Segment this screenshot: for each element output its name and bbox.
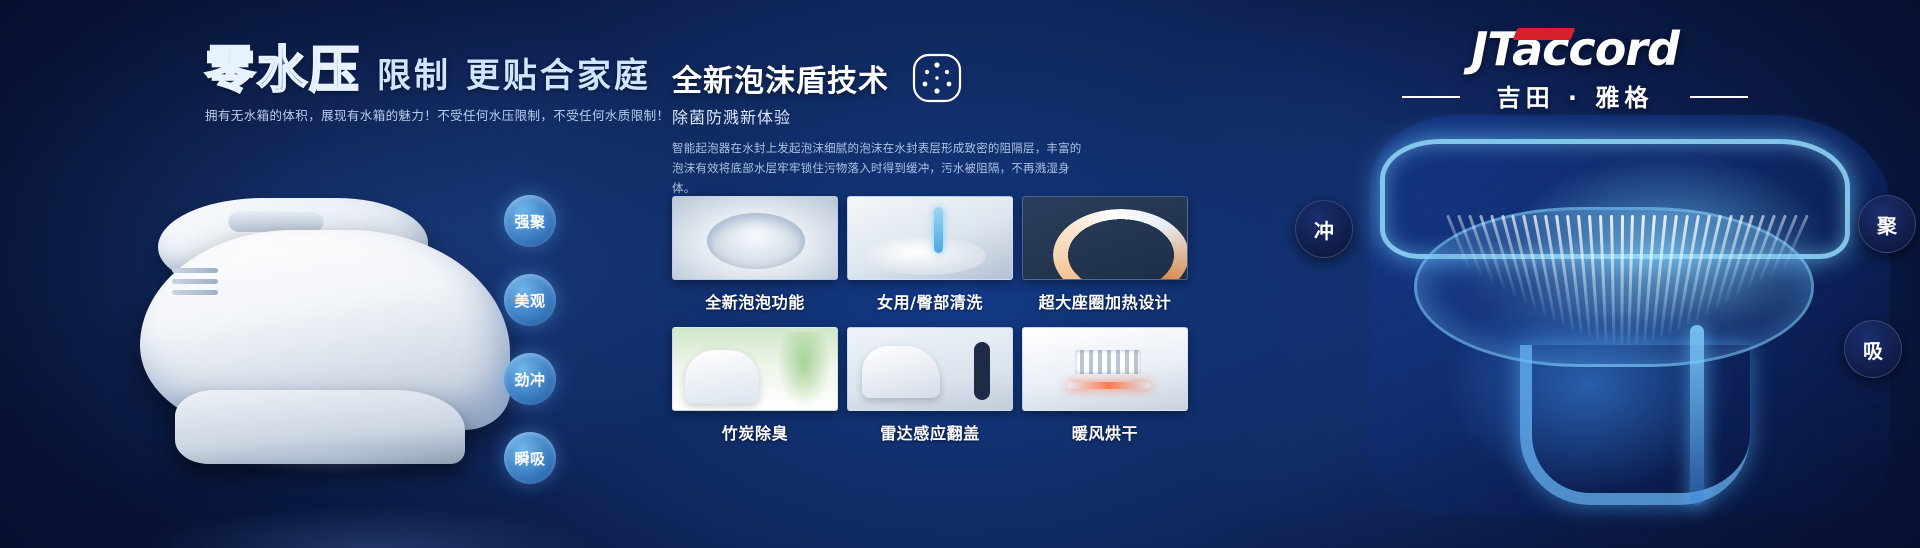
feature-caption: 雷达感应翻盖: [847, 420, 1013, 444]
feature-badge-column: 强聚 美观 劲冲 瞬吸: [504, 195, 556, 484]
headline-row: 零水压 限制 更贴合家庭: [205, 30, 651, 102]
circle-badge-chong[interactable]: 冲: [1295, 200, 1353, 258]
middle-panel: 全新泡沫盾技术 除菌防溅新体验 智能起泡器在水封上发起泡沫细腻的泡沫在水封表层形…: [660, 0, 1240, 548]
heated-seat-ring-thumb: [1022, 196, 1188, 280]
logo-chinese-name: 吉田 · 雅格: [1410, 78, 1740, 113]
left-panel: 零水压 限制 更贴合家庭 拥有无水箱的体积，展现有水箱的魅力！不受任何水压限制，…: [0, 0, 660, 548]
circle-badge-xi[interactable]: 吸: [1844, 320, 1902, 378]
badge-jin-chong[interactable]: 劲冲: [504, 353, 556, 405]
feature-cell[interactable]: 超大座圈加热设计: [1022, 196, 1188, 313]
right-panel: JTaccord 吉田 · 雅格 冲 聚 吸: [1240, 0, 1920, 548]
product-image: [120, 140, 540, 470]
badge-mei-guan[interactable]: 美观: [504, 274, 556, 326]
feature-caption: 超大座圈加热设计: [1022, 289, 1188, 313]
feature-cell[interactable]: 竹炭除臭: [672, 327, 838, 444]
logo-wordmark: JTaccord: [1471, 22, 1679, 76]
middle-heading-row: 全新泡沫盾技术: [672, 52, 963, 104]
promo-banner: 零水压 限制 更贴合家庭 拥有无水箱的体积，展现有水箱的魅力！不受任何水压限制，…: [0, 0, 1920, 548]
feature-cell[interactable]: 全新泡泡功能: [672, 196, 838, 313]
female-rear-wash-thumb: [847, 196, 1013, 280]
product-control-panel: [228, 210, 324, 232]
warm-air-dry-thumb: [1022, 327, 1188, 411]
product-reflection: [170, 450, 490, 520]
headline-sub: 限制 更贴合家庭: [377, 48, 651, 97]
middle-title: 全新泡沫盾技术: [672, 56, 889, 100]
circle-badge-ju[interactable]: 聚: [1858, 195, 1916, 253]
feature-cell[interactable]: 女用/臀部清洗: [847, 196, 1013, 313]
brand-logo: JTaccord 吉田 · 雅格: [1410, 22, 1740, 113]
toilet-flush-xray-visual: 冲 聚 吸: [1370, 115, 1890, 515]
middle-subtitle: 除菌防溅新体验: [672, 104, 791, 128]
feature-caption: 暖风烘干: [1022, 420, 1188, 444]
product-side-buttons: [172, 268, 232, 298]
feature-caption: 女用/臀部清洗: [847, 289, 1013, 313]
foam-bubble-icon: [911, 52, 963, 104]
headline-main: 零水压: [205, 30, 361, 102]
xray-water-jets: [1440, 215, 1820, 365]
middle-body-text: 智能起泡器在水封上发起泡沫细腻的泡沫在水封表层形成致密的阻隔层，丰富的泡沫有效将…: [672, 138, 1092, 198]
feature-cell[interactable]: 雷达感应翻盖: [847, 327, 1013, 444]
xray-pipe: [1690, 325, 1704, 505]
feature-caption: 竹炭除臭: [672, 420, 838, 444]
badge-shun-xi[interactable]: 瞬吸: [504, 432, 556, 484]
badge-qiang-ju[interactable]: 强聚: [504, 195, 556, 247]
feature-caption: 全新泡泡功能: [672, 289, 838, 313]
feature-cell[interactable]: 暖风烘干: [1022, 327, 1188, 444]
radar-sensor-lid-thumb: [847, 327, 1013, 411]
logo-word-jt: JT: [1471, 22, 1512, 76]
feature-grid: 全新泡泡功能 女用/臀部清洗 超大座圈加热设计 竹炭除臭 雷达感应翻盖 暖风烘干: [672, 196, 1220, 444]
foam-function-thumb: [672, 196, 838, 280]
logo-red-slash-icon: [1513, 28, 1576, 40]
bamboo-charcoal-deodorize-thumb: [672, 327, 838, 411]
headline-description: 拥有无水箱的体积，展现有水箱的魅力！不受任何水压限制，不受任何水质限制！: [205, 105, 625, 124]
xray-trapway: [1520, 345, 1750, 505]
